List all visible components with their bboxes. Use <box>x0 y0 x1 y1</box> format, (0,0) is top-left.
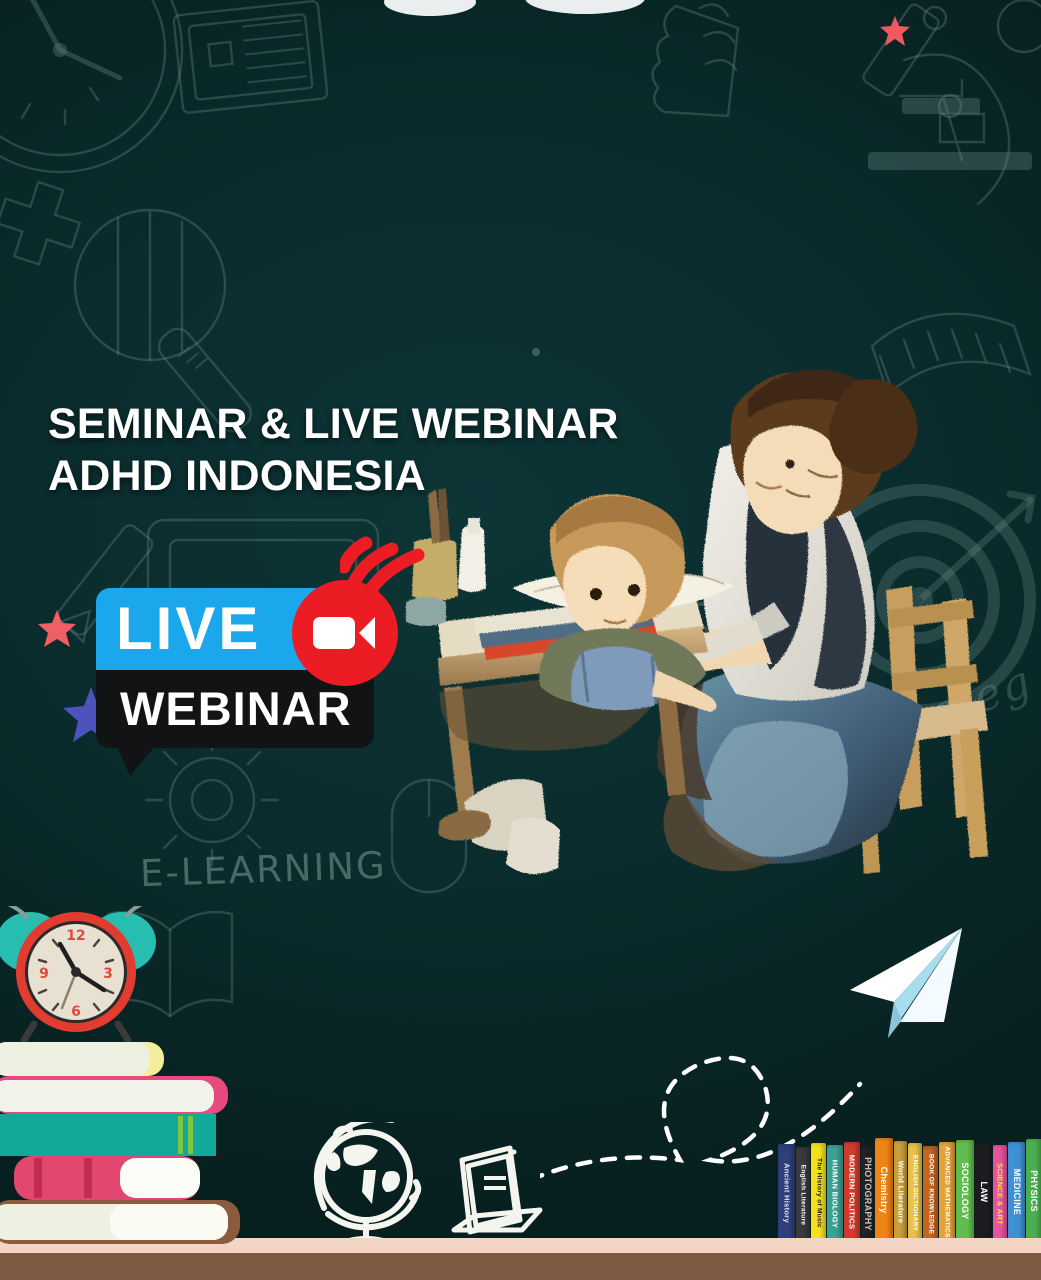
library-book-title: The History of Music <box>815 1158 822 1228</box>
library-book-title: BOOK OF KNOWLEDGE <box>927 1154 934 1234</box>
library-book-spine: SOCIOLOGY <box>956 1140 974 1242</box>
stack-book-5 <box>0 1200 240 1244</box>
library-book-spine: The History of Music <box>811 1143 826 1242</box>
library-book-title: MODERN POLITICS <box>848 1155 857 1230</box>
library-book-spine: PHOTOGRAPHY <box>861 1146 874 1242</box>
library-book-title: HUMAN BIOLOGY <box>831 1159 840 1227</box>
library-book-spine: HUMAN BIOLOGY <box>827 1145 843 1242</box>
library-book-title: PHOTOGRAPHY <box>863 1157 873 1231</box>
paper-plane-icon <box>838 926 968 1051</box>
star-red-icon <box>36 608 78 650</box>
library-book-title: World Literature <box>896 1160 905 1223</box>
stack-book-3 <box>0 1114 216 1156</box>
shelf-body <box>0 1253 1041 1280</box>
book-stack <box>0 1036 282 1251</box>
badge-webinar-label: WEBINAR <box>120 685 352 733</box>
badge-speech-tail <box>114 740 160 776</box>
library-book-spine: BOOK OF KNOWLEDGE <box>923 1146 938 1242</box>
library-book-title: English Literature <box>800 1164 807 1225</box>
library-book-spine: World Literature <box>894 1141 907 1242</box>
library-book-spine: Chemistry <box>875 1138 893 1242</box>
library-book-spine: MODERN POLITICS <box>844 1142 860 1242</box>
title-line-1: SEMINAR & LIVE WEBINAR <box>48 398 619 450</box>
library-book-title: LAW <box>979 1182 989 1203</box>
library-book-spine: PHYSICS <box>1026 1139 1041 1242</box>
badge-live-label: LIVE <box>116 599 261 659</box>
globe-chalk-icon <box>306 1122 431 1257</box>
stack-book-2 <box>0 1076 228 1114</box>
svg-text:12: 12 <box>66 928 85 944</box>
library-book-title: Chemistry <box>879 1167 889 1214</box>
library-book-spine: ADVANCED MATHEMATICS <box>939 1142 955 1242</box>
chalk-text-elearning: E-LEARNING <box>139 844 387 896</box>
library-book-title: SOCIOLOGY <box>960 1162 970 1219</box>
library-book-title: Ancient History <box>782 1163 791 1223</box>
video-camera-icon <box>292 580 398 686</box>
library-book-title: ADVANCED MATHEMATICS <box>944 1146 951 1237</box>
page-title: SEMINAR & LIVE WEBINAR ADHD INDONESIA <box>48 398 619 502</box>
library-book-spine: LAW <box>975 1142 992 1242</box>
library-book-spine: SCIENCE & ART <box>993 1145 1007 1242</box>
star-red-small-icon <box>878 14 912 48</box>
library-book-spine: ENGLISH DICTIONARY <box>908 1143 922 1242</box>
webinar-poster: E-LEARNING rateg <box>0 0 1041 1280</box>
library-book-spine: MEDICINE <box>1008 1142 1025 1242</box>
library-book-spine: Ancient History <box>778 1144 795 1242</box>
library-book-title: SCIENCE & ART <box>996 1163 1005 1225</box>
title-line-2: ADHD INDONESIA <box>48 450 619 502</box>
stack-book-1 <box>0 1042 164 1076</box>
svg-text:9: 9 <box>39 966 49 982</box>
live-webinar-badge[interactable]: LIVE WEBINAR <box>96 588 374 748</box>
library-book-spine: English Literature <box>796 1147 810 1242</box>
svg-text:3: 3 <box>103 966 113 982</box>
library-book-title: ENGLISH DICTIONARY <box>912 1154 919 1230</box>
library-book-title: PHYSICS <box>1029 1170 1039 1212</box>
svg-text:6: 6 <box>71 1004 81 1020</box>
library-book-title: MEDICINE <box>1012 1169 1022 1215</box>
stack-book-4 <box>14 1156 200 1200</box>
library-book-row: Ancient HistoryEnglish LiteratureThe His… <box>778 1142 1041 1242</box>
